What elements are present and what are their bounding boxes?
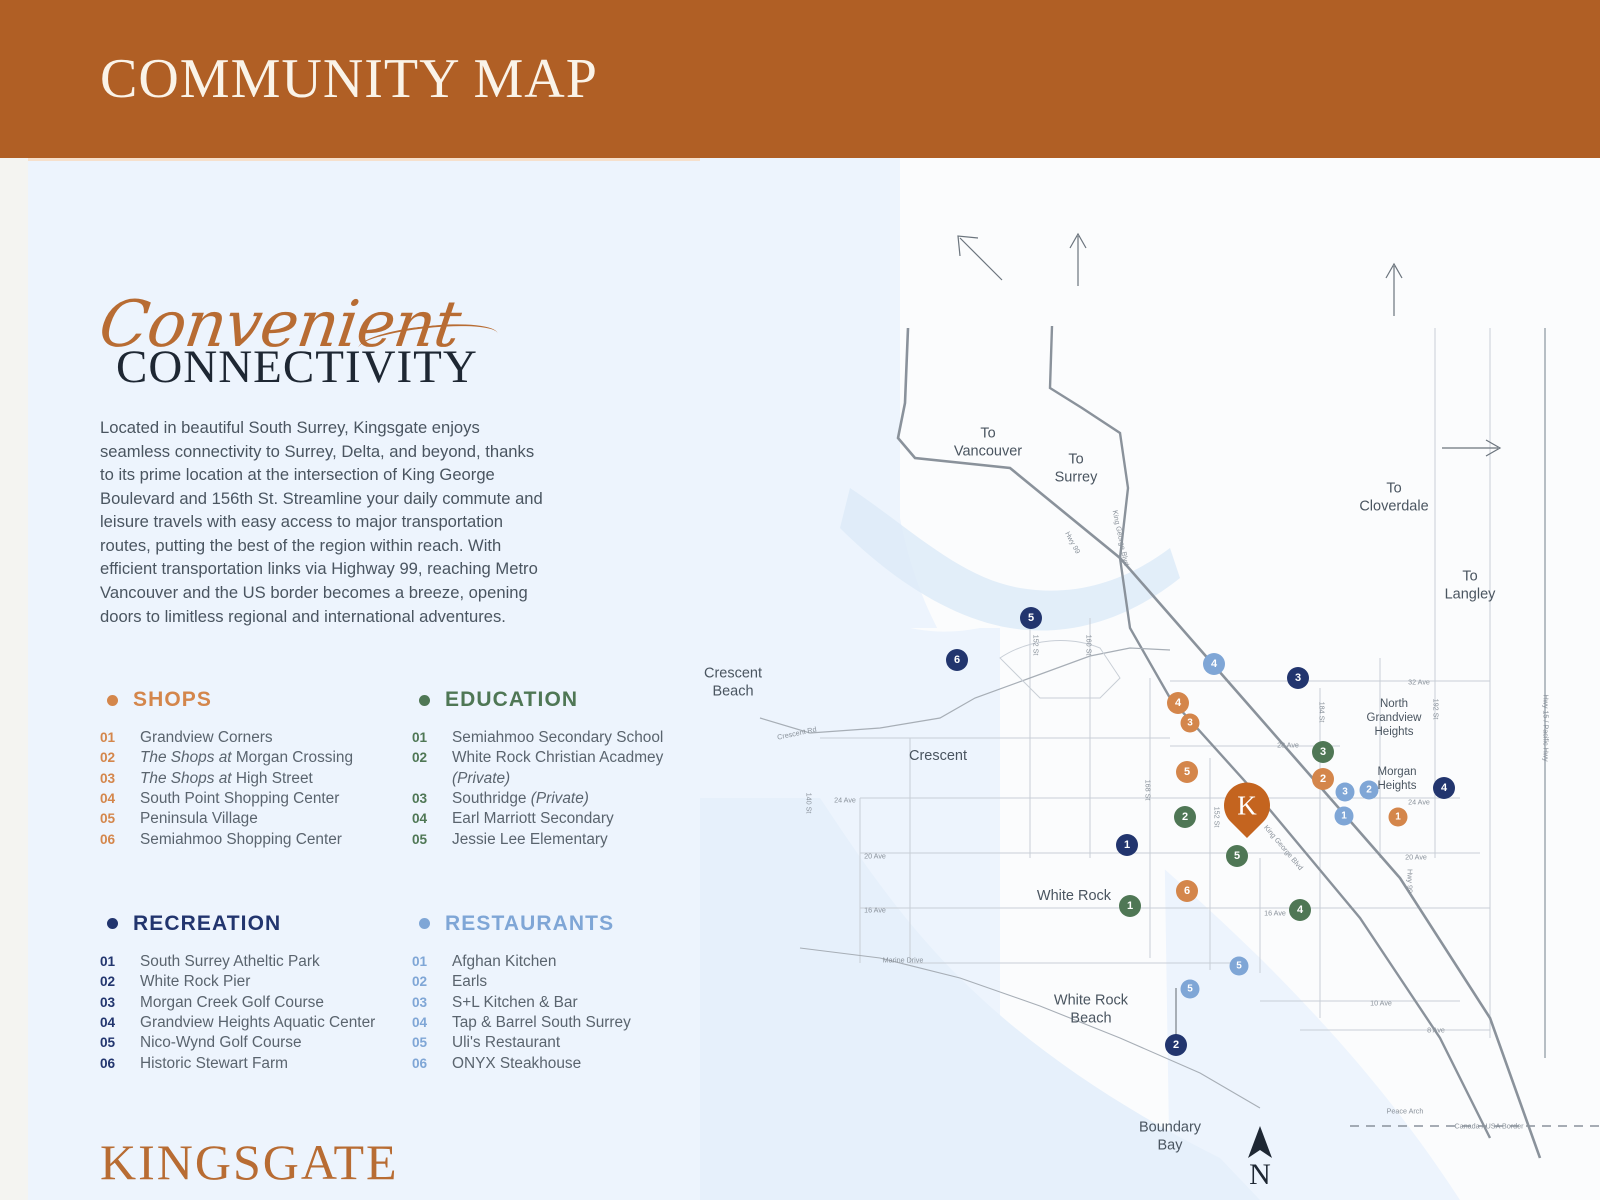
list-item[interactable]: 03Southridge (Private)	[412, 789, 724, 809]
street-label: 20 Ave	[864, 853, 886, 862]
list-item[interactable]: 01Afghan Kitchen	[412, 952, 724, 972]
list-item[interactable]: 03Morgan Creek Golf Course	[100, 993, 412, 1013]
street-label: 184 St	[1317, 702, 1326, 723]
item-label-italic: The Shops at	[140, 749, 236, 766]
street-label: 140 St	[804, 793, 813, 814]
legend-row-bottom: RECREATION 01South Surrey Atheltic Park …	[100, 912, 800, 1074]
map-marker-recreation-6[interactable]: 6	[946, 649, 968, 671]
legend-header-education: EDUCATION	[412, 688, 724, 712]
street-label: 160 St	[1084, 635, 1093, 656]
street-label: Marine Drive	[883, 957, 924, 966]
legend-list-shops: 01Grandview Corners 02The Shops at Morga…	[100, 728, 412, 850]
item-label: Earl Marriott Secondary	[452, 809, 614, 829]
list-item[interactable]: 01Semiahmoo Secondary School	[412, 728, 724, 748]
list-item[interactable]: 01South Surrey Atheltic Park	[100, 952, 412, 972]
list-item[interactable]: 04Tap & Barrel South Surrey	[412, 1013, 724, 1033]
item-number: 06	[100, 830, 140, 850]
map-marker-recreation-2[interactable]: 2	[1165, 1034, 1187, 1056]
street-label-pacific-hwy: Hwy 15 / Pacific Hwy	[1541, 694, 1550, 761]
place-label-white-rock-beach: White Rock Beach	[1054, 992, 1128, 1027]
brand-logo: KINGSGATE SOUTH SURREY	[100, 1133, 399, 1200]
map-marker-recreation-5[interactable]: 5	[1020, 607, 1042, 629]
project-pin-label: K	[1224, 783, 1270, 829]
list-item[interactable]: 02Earls	[412, 972, 724, 992]
item-number: 02	[100, 972, 140, 992]
item-label: S+L Kitchen & Bar	[452, 993, 578, 1013]
shops-dot-icon	[107, 695, 118, 706]
map-marker-restaurants-4[interactable]: 4	[1203, 653, 1225, 675]
item-number: 06	[100, 1054, 140, 1074]
item-label: Historic Stewart Farm	[140, 1054, 288, 1074]
item-label: Uli's Restaurant	[452, 1033, 560, 1053]
list-item[interactable]: 06Historic Stewart Farm	[100, 1054, 412, 1074]
list-item[interactable]: 05Nico-Wynd Golf Course	[100, 1033, 412, 1053]
legend-category-restaurants: RESTAURANTS 01Afghan Kitchen 02Earls 03S…	[412, 912, 724, 1074]
item-label-text: High Street	[236, 770, 313, 787]
street-label-peace-arch: Peace Arch	[1387, 1108, 1424, 1117]
map-marker-recreation-1[interactable]: 1	[1116, 834, 1138, 856]
education-dot-icon	[419, 695, 430, 706]
item-number: 03	[100, 993, 140, 1013]
list-item[interactable]: 02The Shops at Morgan Crossing	[100, 748, 412, 768]
list-item[interactable]: 04Earl Marriott Secondary	[412, 809, 724, 829]
place-label-boundary-bay: Boundary Bay	[1139, 1119, 1201, 1154]
community-map[interactable]: To Vancouver To Surrey To Cloverdale To …	[700, 158, 1600, 1200]
item-label: White Rock Christian Acadmey (Private)	[452, 748, 724, 789]
item-number: 02	[412, 972, 452, 992]
item-label-italic: The Shops at	[140, 770, 236, 787]
direction-label-vancouver: To Vancouver	[954, 425, 1022, 460]
legend-row-top: SHOPS 01Grandview Corners 02The Shops at…	[100, 688, 800, 850]
item-label: Southridge (Private)	[452, 789, 589, 809]
item-number: 06	[412, 1054, 452, 1074]
map-marker-shops-2[interactable]: 2	[1312, 768, 1334, 790]
item-label: Semiahmoo Shopping Center	[140, 830, 342, 850]
list-item[interactable]: 04Grandview Heights Aquatic Center	[100, 1013, 412, 1033]
block-heading: CONNECTIVITY	[116, 340, 478, 394]
item-label: ONYX Steakhouse	[452, 1054, 581, 1074]
street-label: 24 Ave	[1408, 799, 1430, 808]
item-label: Grandview Corners	[140, 728, 273, 748]
item-number: 01	[100, 728, 140, 748]
item-label-text: Morgan Crossing	[236, 749, 353, 766]
item-number: 05	[100, 809, 140, 829]
item-label: Nico-Wynd Golf Course	[140, 1033, 302, 1053]
direction-label-cloverdale: To Cloverdale	[1359, 480, 1428, 515]
map-marker-restaurants-1[interactable]: 1	[1335, 807, 1354, 826]
legend-category-recreation: RECREATION 01South Surrey Atheltic Park …	[100, 912, 412, 1074]
legend-header-recreation: RECREATION	[100, 912, 412, 936]
page-title: COMMUNITY MAP	[100, 47, 598, 111]
item-number: 02	[100, 748, 140, 768]
left-edge-strip	[0, 158, 28, 1200]
item-label-text: White Rock Christian Acadmey	[452, 749, 663, 766]
item-label: White Rock Pier	[140, 972, 250, 992]
list-item[interactable]: 05Peninsula Village	[100, 809, 412, 829]
map-marker-restaurants-5b[interactable]: 5	[1181, 980, 1200, 999]
legend-title-education: EDUCATION	[445, 688, 578, 712]
item-label-italic: (Private)	[531, 790, 589, 807]
map-canvas	[700, 158, 1600, 1200]
list-item[interactable]: 02White Rock Pier	[100, 972, 412, 992]
direction-label-langley: To Langley	[1445, 568, 1496, 603]
street-label-border: Canada / USA Border	[1454, 1123, 1523, 1132]
north-label: N	[1249, 1158, 1271, 1192]
place-label-white-rock: White Rock	[1037, 888, 1111, 906]
map-marker-shops-6[interactable]: 6	[1176, 880, 1198, 902]
legend: SHOPS 01Grandview Corners 02The Shops at…	[100, 688, 800, 1074]
place-label-north-grandview-heights: North Grandview Heights	[1367, 697, 1422, 739]
list-item[interactable]: 03The Shops at High Street	[100, 769, 412, 789]
legend-title-recreation: RECREATION	[133, 912, 281, 936]
direction-label-surrey: To Surrey	[1055, 451, 1098, 486]
place-label-crescent-beach: Crescent Beach	[704, 665, 762, 700]
street-label: 20 Ave	[1405, 854, 1427, 863]
legend-list-recreation: 01South Surrey Atheltic Park 02White Roc…	[100, 952, 412, 1074]
item-number: 04	[412, 809, 452, 829]
map-marker-shops-1[interactable]: 1	[1389, 808, 1408, 827]
legend-title-restaurants: RESTAURANTS	[445, 912, 614, 936]
street-label: 152 St	[1031, 635, 1040, 656]
item-label: Peninsula Village	[140, 809, 258, 829]
item-number: 03	[412, 993, 452, 1013]
legend-category-education: EDUCATION 01Semiahmoo Secondary School 0…	[412, 688, 724, 850]
street-label: 24 Ave	[834, 797, 856, 806]
section-heading: Convenient CONNECTIVITY	[100, 288, 760, 398]
item-number: 04	[100, 1013, 140, 1033]
map-marker-education-5[interactable]: 5	[1226, 845, 1248, 867]
item-number: 05	[412, 1033, 452, 1053]
item-number: 03	[412, 789, 452, 809]
street-label: Hwy 99	[1405, 869, 1414, 893]
page-header: COMMUNITY MAP	[0, 0, 1600, 158]
item-number: 02	[412, 748, 452, 789]
street-label: 16 Ave	[1264, 910, 1286, 919]
item-label: Semiahmoo Secondary School	[452, 728, 663, 748]
place-label-morgan-heights: Morgan Heights	[1378, 765, 1417, 793]
item-label: Earls	[452, 972, 487, 992]
item-label: Afghan Kitchen	[452, 952, 556, 972]
item-number: 01	[412, 952, 452, 972]
street-label: 28 Ave	[1277, 742, 1299, 751]
legend-header-restaurants: RESTAURANTS	[412, 912, 724, 936]
item-number: 01	[100, 952, 140, 972]
street-label: 32 Ave	[1408, 679, 1430, 688]
recreation-dot-icon	[107, 918, 118, 929]
list-item[interactable]: 05Jessie Lee Elementary	[412, 830, 724, 850]
map-marker-recreation-3[interactable]: 3	[1287, 667, 1309, 689]
legend-list-restaurants: 01Afghan Kitchen 02Earls 03S+L Kitchen &…	[412, 952, 724, 1074]
legend-category-shops: SHOPS 01Grandview Corners 02The Shops at…	[100, 688, 412, 850]
list-item[interactable]: 03S+L Kitchen & Bar	[412, 993, 724, 1013]
restaurants-dot-icon	[419, 918, 430, 929]
list-item[interactable]: 06Semiahmoo Shopping Center	[100, 830, 412, 850]
brand-name: KINGSGATE	[100, 1133, 399, 1191]
legend-title-shops: SHOPS	[133, 688, 212, 712]
item-label: The Shops at High Street	[140, 769, 313, 789]
map-marker-shops-5[interactable]: 5	[1176, 761, 1198, 783]
map-marker-education-2[interactable]: 2	[1174, 806, 1196, 828]
list-item[interactable]: 06ONYX Steakhouse	[412, 1054, 724, 1074]
item-number: 01	[412, 728, 452, 748]
map-marker-education-4[interactable]: 4	[1289, 899, 1311, 921]
map-marker-restaurants-2[interactable]: 2	[1360, 781, 1379, 800]
map-marker-restaurants-5a[interactable]: 5	[1230, 957, 1249, 976]
item-number: 04	[100, 789, 140, 809]
info-column: Convenient CONNECTIVITY Located in beaut…	[100, 288, 760, 628]
page-body: Convenient CONNECTIVITY Located in beaut…	[0, 158, 1600, 1200]
item-label: South Point Shopping Center	[140, 789, 339, 809]
place-label-crescent: Crescent	[909, 748, 967, 766]
item-label: Tap & Barrel South Surrey	[452, 1013, 631, 1033]
list-item[interactable]: 02White Rock Christian Acadmey (Private)	[412, 748, 724, 789]
intro-paragraph: Located in beautiful South Surrey, Kings…	[100, 416, 552, 628]
street-label: 152 St	[1212, 807, 1221, 828]
item-label-italic: (Private)	[452, 770, 510, 787]
item-label: Grandview Heights Aquatic Center	[140, 1013, 375, 1033]
legend-header-shops: SHOPS	[100, 688, 412, 712]
map-marker-recreation-4[interactable]: 4	[1433, 777, 1455, 799]
item-number: 04	[412, 1013, 452, 1033]
list-item[interactable]: 04South Point Shopping Center	[100, 789, 412, 809]
list-item[interactable]: 01Grandview Corners	[100, 728, 412, 748]
map-marker-restaurants-3[interactable]: 3	[1336, 783, 1355, 802]
list-item[interactable]: 05Uli's Restaurant	[412, 1033, 724, 1053]
project-location-pin[interactable]: K	[1214, 773, 1279, 838]
item-number: 05	[412, 830, 452, 850]
map-marker-shops-4[interactable]: 4	[1167, 692, 1189, 714]
item-label: Morgan Creek Golf Course	[140, 993, 324, 1013]
street-label: 16 Ave	[864, 907, 886, 916]
item-label: The Shops at Morgan Crossing	[140, 748, 353, 768]
street-label: 8 Ave	[1427, 1027, 1445, 1036]
item-label-text: Southridge	[452, 790, 531, 807]
item-label: Jessie Lee Elementary	[452, 830, 608, 850]
map-marker-education-3[interactable]: 3	[1312, 741, 1334, 763]
legend-list-education: 01Semiahmoo Secondary School 02White Roc…	[412, 728, 724, 850]
street-label: 168 St	[1143, 780, 1152, 801]
map-marker-education-1[interactable]: 1	[1119, 895, 1141, 917]
street-label: 10 Ave	[1370, 1000, 1392, 1009]
item-label: South Surrey Atheltic Park	[140, 952, 320, 972]
street-label: 192 St	[1431, 699, 1440, 720]
map-marker-shops-3[interactable]: 3	[1181, 714, 1200, 733]
item-number: 03	[100, 769, 140, 789]
item-number: 05	[100, 1033, 140, 1053]
